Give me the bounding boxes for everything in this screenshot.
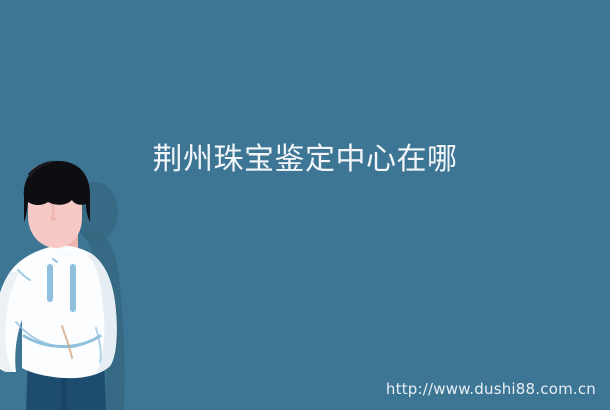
watermark-url: http://www.dushi88.com.cn [386,380,596,398]
figure-shadow [74,182,125,410]
person-in-white-hoodie-illustration [0,160,150,410]
hoodie-seams [16,270,101,362]
page-title: 荆州珠宝鉴定中心在哪 [0,142,610,178]
hoodie [0,244,117,378]
article-cover-banner: 荆州珠宝鉴定中心在哪 http://www.dushi88.com.cn [0,0,610,410]
pants [26,358,106,410]
neck [52,232,78,262]
person-illustration-svg [0,160,150,410]
hoodie-drawstring [47,259,76,312]
